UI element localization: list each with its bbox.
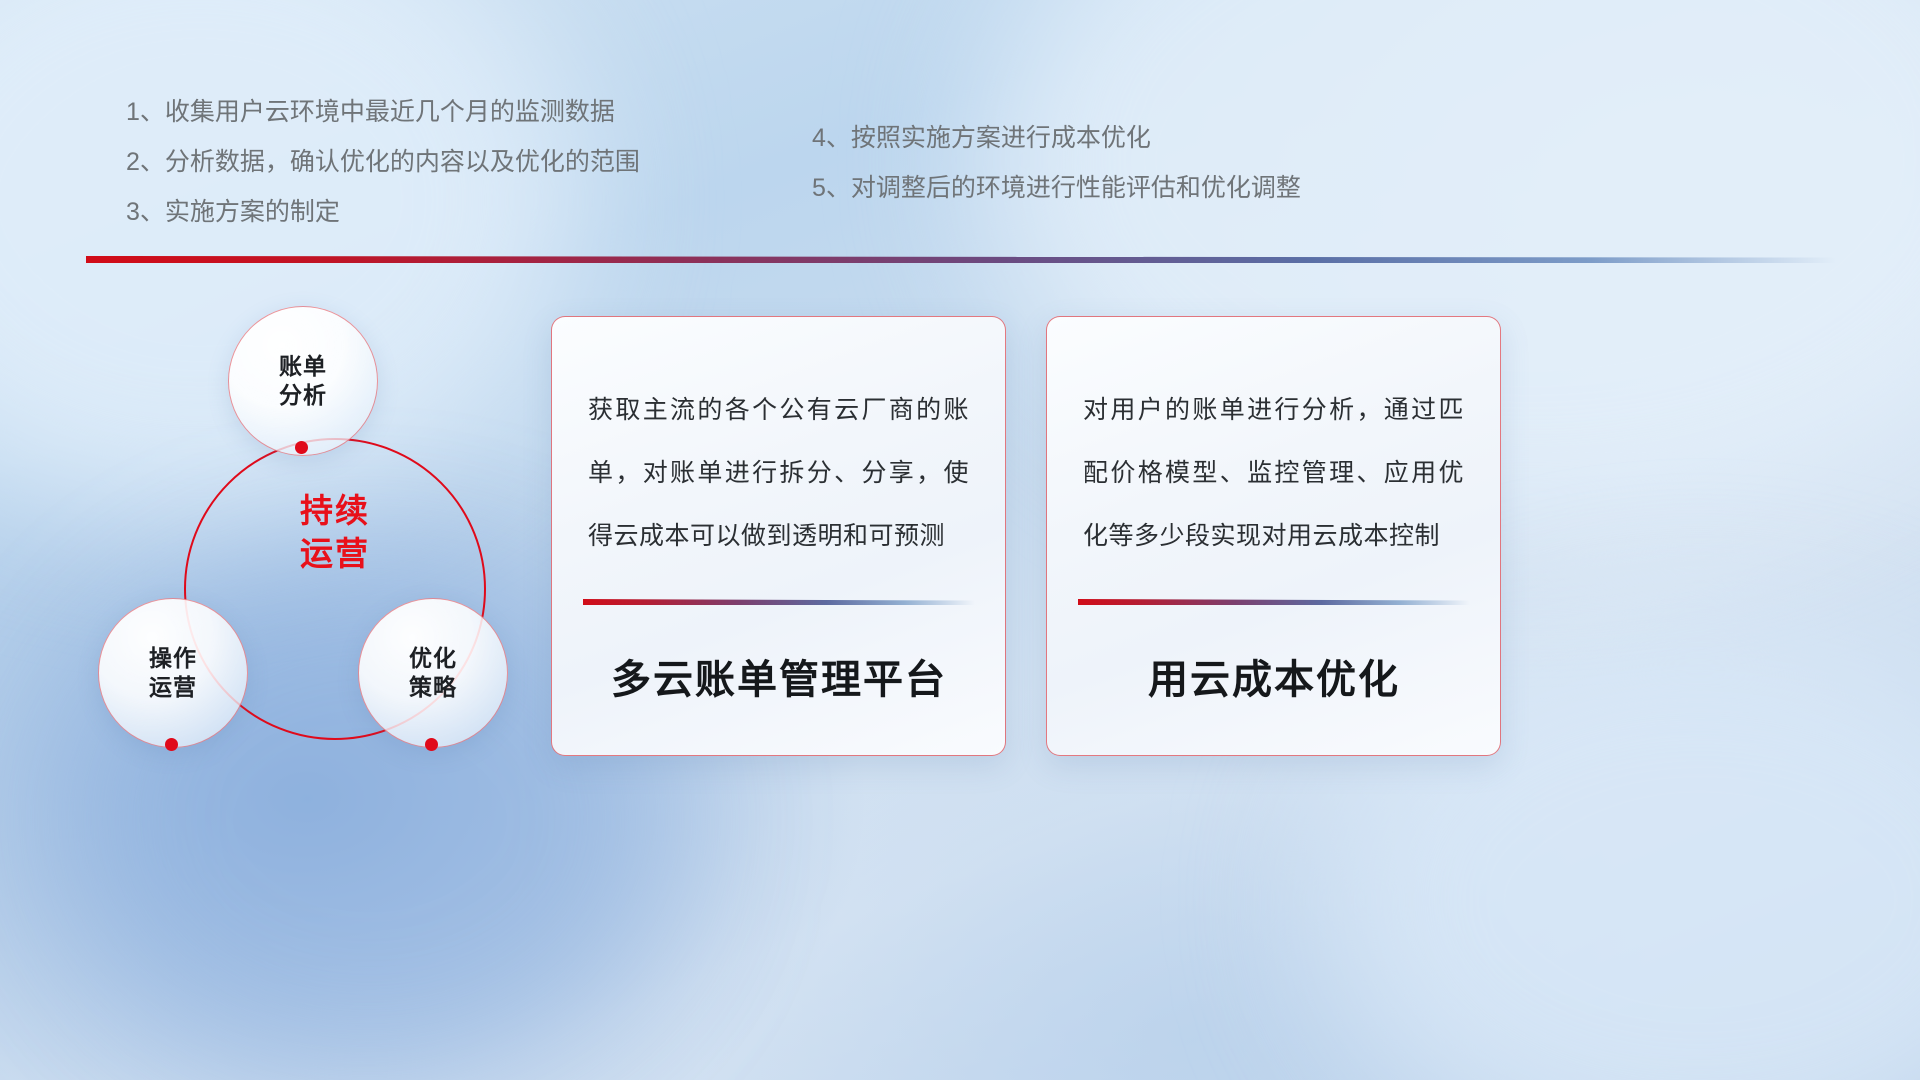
steps-left-column: 1、收集用户云环境中最近几个月的监测数据 2、分析数据，确认优化的内容以及优化的… (126, 100, 640, 250)
step-item-2: 2、分析数据，确认优化的内容以及优化的范围 (126, 150, 640, 175)
venn-bubble-bill-analysis[interactable]: 账单 分析 (228, 306, 378, 456)
connector-dot-left (165, 738, 178, 751)
connector-dot-right (425, 738, 438, 751)
step-item-1: 1、收集用户云环境中最近几个月的监测数据 (126, 100, 640, 125)
venn-diagram: 持续 运营 账单 分析 操作 运营 优化 策略 (80, 290, 550, 770)
venn-center-label-line2: 运营 (184, 533, 486, 576)
venn-bubble-right-label: 优化 策略 (409, 644, 457, 703)
feature-card-multicloud-billing[interactable]: 获取主流的各个公有云厂商的账单，对账单进行拆分、分享，使得云成本可以做到透明和可… (551, 316, 1006, 756)
step-item-3: 3、实施方案的制定 (126, 200, 640, 225)
venn-bubble-right-line1: 优化 (409, 644, 457, 673)
step-item-4: 4、按照实施方案进行成本优化 (812, 126, 1301, 151)
card-b-body: 对用户的账单进行分析，通过匹配价格模型、监控管理、应用优化等多少段实现对用云成本… (1083, 379, 1464, 568)
feature-card-cloud-cost-optimization[interactable]: 对用户的账单进行分析，通过匹配价格模型、监控管理、应用优化等多少段实现对用云成本… (1046, 316, 1501, 756)
venn-center-label-line1: 持续 (184, 490, 486, 533)
venn-bubble-top-line1: 账单 (279, 352, 327, 381)
section-divider-line (86, 256, 1836, 263)
step-item-5: 5、对调整后的环境进行性能评估和优化调整 (812, 176, 1301, 201)
venn-bubble-left-line2: 运营 (149, 673, 197, 702)
connector-dot-top (295, 441, 308, 454)
venn-bubble-optimization-strategy[interactable]: 优化 策略 (358, 598, 508, 748)
steps-right-column: 4、按照实施方案进行成本优化 5、对调整后的环境进行性能评估和优化调整 (812, 126, 1301, 226)
card-b-accent-rule (1078, 599, 1470, 605)
slide-canvas: 1、收集用户云环境中最近几个月的监测数据 2、分析数据，确认优化的内容以及优化的… (0, 0, 1920, 1080)
venn-bubble-top-label: 账单 分析 (279, 352, 327, 411)
venn-center-label: 持续 运营 (184, 490, 486, 576)
card-a-title: 多云账单管理平台 (583, 647, 975, 705)
card-a-accent-rule (583, 599, 975, 605)
venn-bubble-left-line1: 操作 (149, 644, 197, 673)
card-b-title: 用云成本优化 (1078, 647, 1470, 705)
venn-bubble-right-line2: 策略 (409, 673, 457, 702)
venn-bubble-left-label: 操作 运营 (149, 644, 197, 703)
venn-bubble-operations[interactable]: 操作 运营 (98, 598, 248, 748)
card-a-body: 获取主流的各个公有云厂商的账单，对账单进行拆分、分享，使得云成本可以做到透明和可… (588, 379, 969, 568)
venn-bubble-top-line2: 分析 (279, 381, 327, 410)
